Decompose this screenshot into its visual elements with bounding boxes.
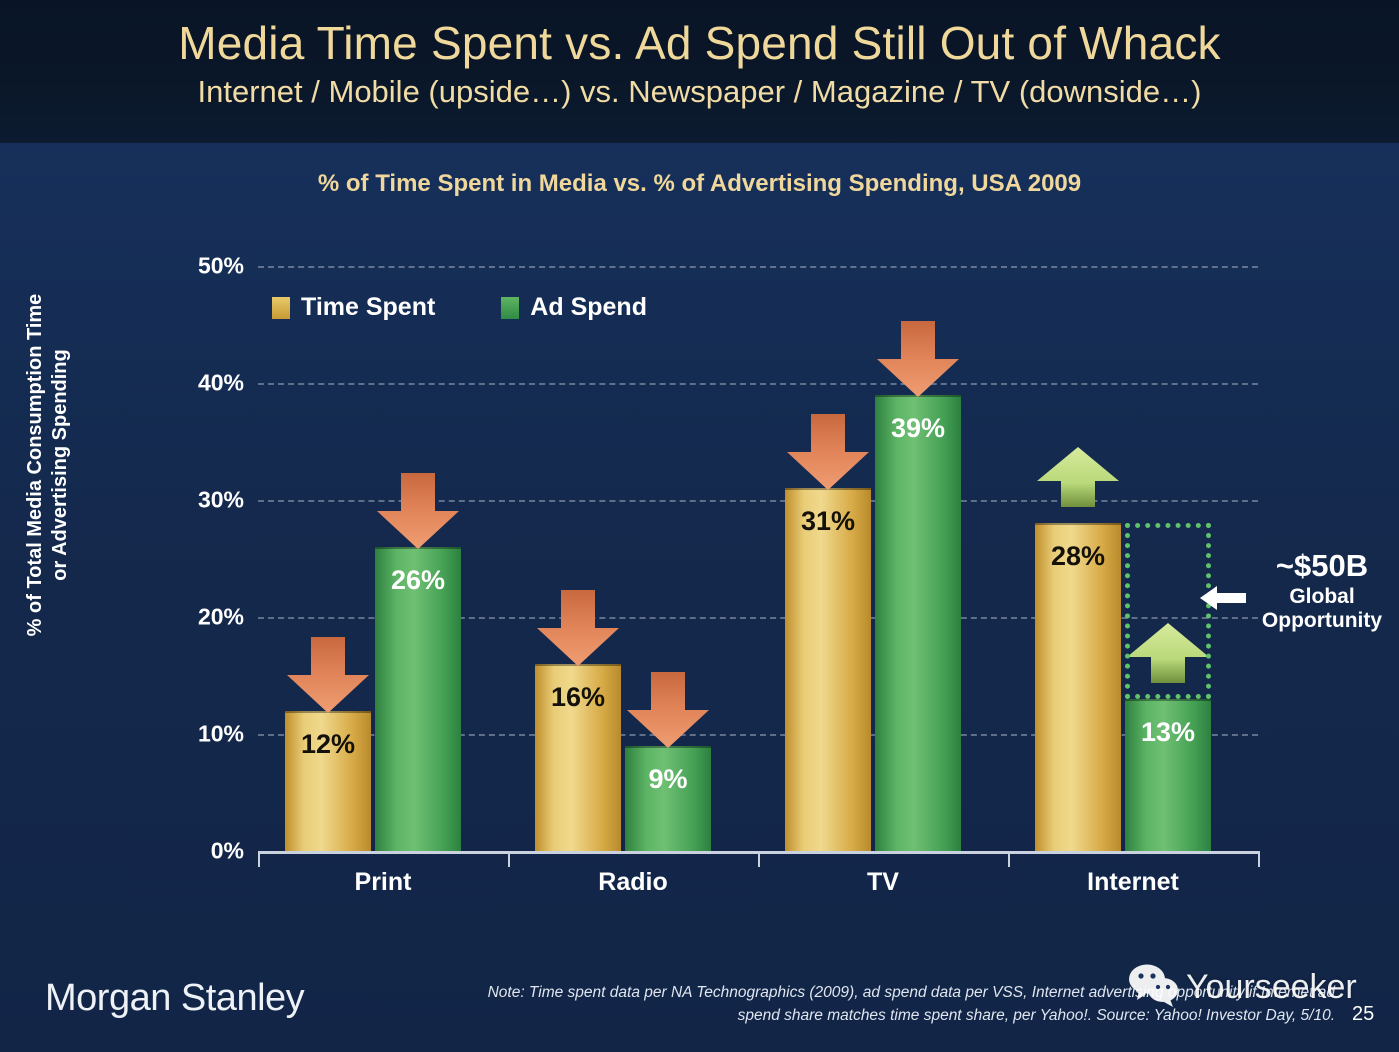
morgan-stanley-logo: Morgan Stanley (45, 977, 304, 1020)
y-axis-tick-labels: 50%40%30%20%10%0% (150, 0, 244, 1052)
up-arrow-icon (1035, 447, 1121, 509)
x-axis-label-internet: Internet (1033, 868, 1233, 897)
bar-value-label: 13% (1125, 717, 1211, 748)
bar-value-label: 12% (285, 729, 371, 760)
x-axis-label-radio: Radio (533, 868, 733, 897)
y-tick-label-10: 10% (154, 721, 244, 748)
bar-value-label: 9% (625, 764, 711, 795)
opportunity-callout: ~$50B Global Opportunity (1245, 548, 1399, 634)
legend-item-time-spent: Time Spent (272, 293, 435, 322)
legend-swatch-gold-icon (272, 297, 290, 319)
callout-line-1: Global (1245, 585, 1399, 610)
bar-value-label: 16% (535, 682, 621, 713)
y-tick-label-40: 40% (154, 370, 244, 397)
opportunity-box (1125, 523, 1211, 699)
bar-value-label: 31% (785, 506, 871, 537)
page-number: 25 (1352, 1003, 1374, 1026)
x-axis-tick (1008, 851, 1010, 867)
down-arrow-icon (375, 473, 461, 551)
callout-left-arrow-icon (1200, 583, 1246, 618)
bar-tv-time-spent: 31% (785, 488, 871, 851)
x-axis-tick (508, 851, 510, 867)
footnote-line-2: spend share matches time spent share, pe… (300, 1004, 1335, 1027)
y-axis-title: % of Total Media Consumption Time or Adv… (23, 205, 73, 725)
bar-value-label: 39% (875, 413, 961, 444)
bar-value-label: 28% (1035, 541, 1121, 572)
y-axis-title-line1: % of Total Media Consumption Time (23, 205, 48, 725)
bar-print-ad-spend: 26% (375, 547, 461, 851)
chart-legend: Time Spent Ad Spend (272, 293, 647, 322)
bar-internet-time-spent: 28% (1035, 523, 1121, 851)
down-arrow-icon (785, 414, 871, 492)
bar-radio-time-spent: 16% (535, 664, 621, 851)
callout-line-2: Opportunity (1245, 609, 1399, 634)
bar-tv-ad-spend: 39% (875, 395, 961, 851)
bar-value-label: 26% (375, 565, 461, 596)
legend-swatch-green-icon (501, 297, 519, 319)
y-tick-label-0: 0% (154, 838, 244, 865)
plot-area: 12%16%31%28%26%9%39%13% (258, 266, 1258, 851)
legend-label-time-spent: Time Spent (301, 293, 435, 322)
x-axis-left-cap (258, 851, 260, 867)
footnote: Note: Time spent data per NA Technograph… (300, 981, 1335, 1028)
y-tick-label-20: 20% (154, 604, 244, 631)
y-axis-title-line2: or Advertising Spending (48, 205, 73, 725)
down-arrow-icon (535, 590, 621, 668)
down-arrow-icon (625, 672, 711, 750)
legend-label-ad-spend: Ad Spend (530, 293, 647, 322)
y-tick-label-50: 50% (154, 253, 244, 280)
bar-radio-ad-spend: 9% (625, 746, 711, 851)
y-tick-label-30: 30% (154, 487, 244, 514)
callout-amount: ~$50B (1245, 548, 1399, 585)
footnote-line-1: Note: Time spent data per NA Technograph… (300, 981, 1335, 1004)
x-axis-label-tv: TV (783, 868, 983, 897)
x-axis-tick (758, 851, 760, 867)
bar-print-time-spent: 12% (285, 711, 371, 851)
down-arrow-icon (285, 637, 371, 715)
down-arrow-icon (875, 321, 961, 399)
x-axis-right-cap (1258, 851, 1260, 867)
gridline-50 (258, 266, 1258, 268)
bar-internet-ad-spend: 13% (1125, 699, 1211, 851)
legend-item-ad-spend: Ad Spend (501, 293, 647, 322)
x-axis-label-print: Print (283, 868, 483, 897)
gridline-40 (258, 383, 1258, 385)
